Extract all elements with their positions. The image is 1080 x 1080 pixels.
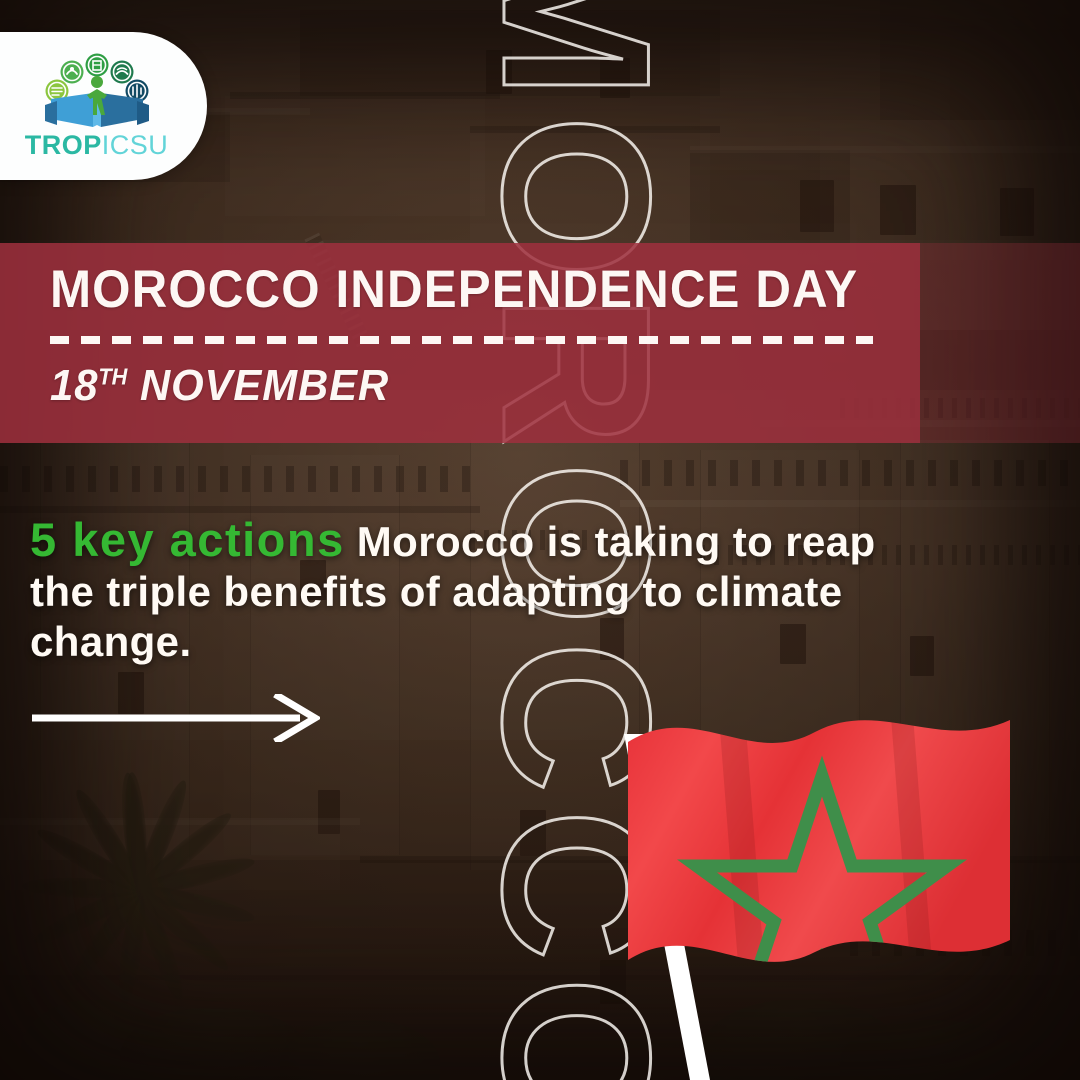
logo-word-trop: TROP [25, 130, 102, 160]
body-copy: 5 key actions Morocco is taking to reap … [30, 512, 920, 667]
poster-canvas: MOROCCO [0, 0, 1080, 1080]
logo-wordmark: TROPICSU [25, 132, 169, 159]
brand-logo-card[interactable]: TROPICSU [0, 32, 207, 180]
date-day: 18 [50, 361, 98, 410]
body-copy-highlight: 5 key actions [30, 513, 345, 566]
date-month: NOVEMBER [140, 361, 389, 410]
logo-word-icsu: ICSU [102, 130, 169, 160]
event-date: 18TH NOVEMBER [50, 361, 389, 411]
morocco-flag [600, 690, 1080, 1080]
right-arrow-icon[interactable] [30, 694, 320, 742]
trop-icsu-logo-mark [43, 53, 151, 129]
date-ordinal: TH [98, 363, 127, 389]
dashed-divider [50, 336, 873, 344]
page-title: MOROCCO INDEPENDENCE DAY [50, 259, 858, 320]
headline-banner-content: MOROCCO INDEPENDENCE DAY 18TH NOVEMBER [0, 243, 1080, 443]
